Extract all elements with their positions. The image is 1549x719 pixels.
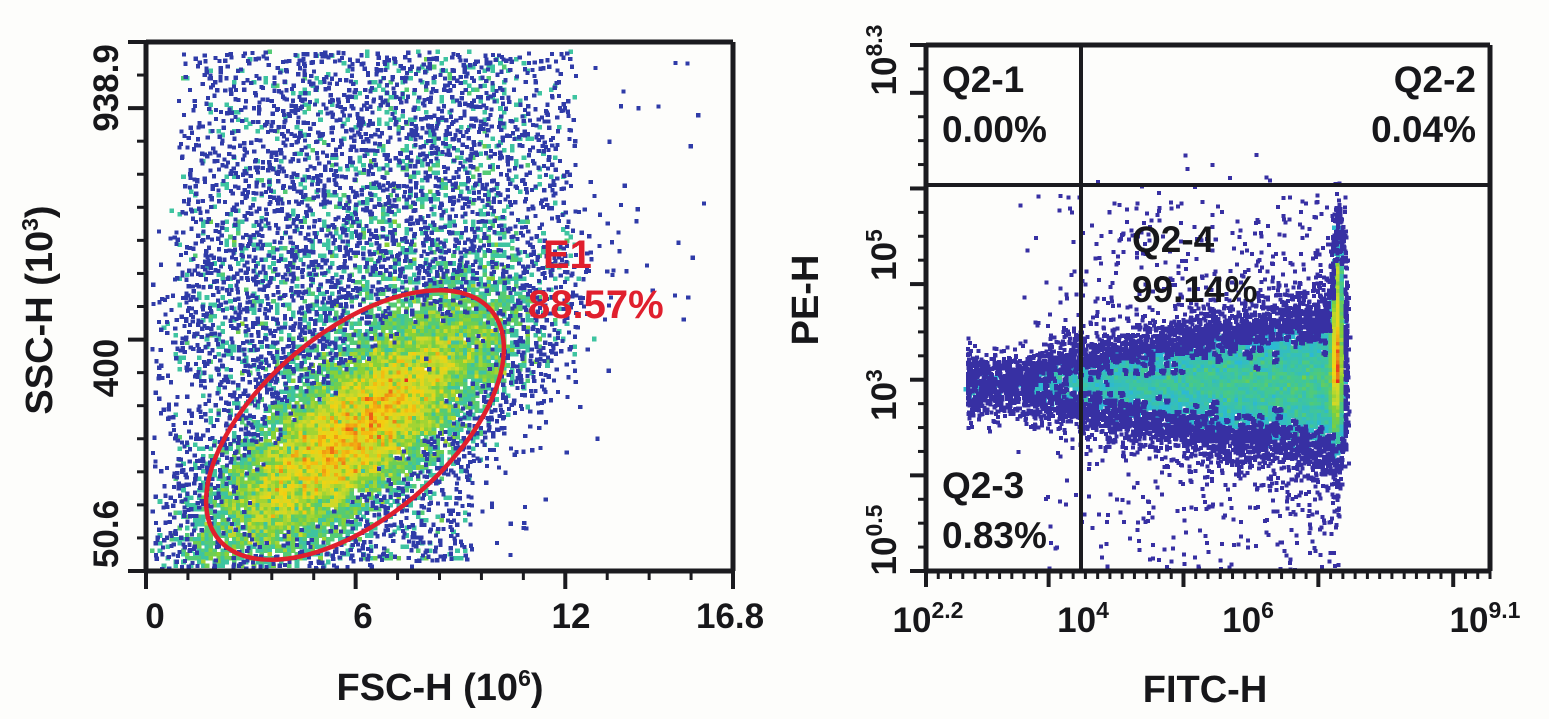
x-tick-3-exp: 9.1 — [1488, 597, 1520, 623]
x-axis-title-exp: 6 — [518, 665, 531, 691]
quadrant-label-Q2-1: Q2-1 0.00% — [942, 59, 1047, 150]
quadrant-Q2-3-name: Q2-3 — [942, 465, 1024, 506]
y-tick-3-exp: 0.5 — [861, 504, 887, 536]
quadrant-Q2-1-name: Q2-1 — [942, 59, 1024, 100]
x-tick-2-exp: 6 — [1261, 597, 1274, 623]
x-tick-label-3: 109.1 — [1450, 597, 1521, 640]
x-axis-title-tail: ) — [531, 667, 544, 709]
x-tick-0-exp: 2.2 — [931, 597, 963, 623]
x-tick-2-base: 10 — [1222, 601, 1261, 640]
x-axis-title-base: FSC-H (10 — [336, 667, 518, 709]
x-tick-3-base: 10 — [1450, 601, 1489, 640]
y-tick-label-2: 50.6 — [87, 500, 126, 568]
x-tick-label-2: 12 — [552, 597, 591, 636]
svg-text:SSC-H (103): SSC-H (103) — [17, 205, 61, 414]
x-axis-ticks — [146, 571, 733, 589]
y-tick-label-1: 105 — [861, 229, 904, 281]
quadrant-label-Q2-3: Q2-3 0.83% — [942, 465, 1047, 556]
x-tick-label-0: 0 — [145, 597, 164, 636]
x-tick-label-3: 16.8 — [696, 597, 764, 636]
x-axis-title: FSC-H (106) — [336, 665, 543, 709]
quadrant-label-Q2-2: Q2-2 0.04% — [1371, 59, 1476, 150]
x-tick-0-base: 10 — [893, 601, 932, 640]
y-tick-label-3: 100.5 — [861, 504, 904, 575]
fsc-ssc-svg: SSC-H (103) 938.9 400 50.6 E1 88.57% — [0, 0, 780, 719]
quadrant-Q2-1-percent: 0.00% — [942, 109, 1047, 150]
quadrant-Q2-4-percent: 99.14% — [1132, 269, 1258, 310]
y-axis-title-exp: 3 — [17, 218, 43, 231]
x-tick-1-exp: 4 — [1096, 597, 1109, 623]
y-tick-1-base: 10 — [865, 242, 904, 281]
y-tick-label-0: 938.9 — [87, 44, 126, 132]
y-tick-label-2: 103 — [861, 369, 904, 421]
fitc-pe-svg: PE-H 108.3 105 103 100.5 — [780, 0, 1549, 719]
gate-label-name: E1 — [543, 233, 592, 277]
x-tick-1-base: 10 — [1057, 601, 1096, 640]
x-tick-label-0: 102.2 — [893, 597, 964, 640]
y-tick-1-exp: 5 — [861, 229, 887, 242]
quadrant-Q2-4-name: Q2-4 — [1132, 219, 1215, 260]
y-axis-ticks — [128, 42, 146, 571]
flow-cytometry-figure: SSC-H (103) 938.9 400 50.6 E1 88.57% — [0, 0, 1549, 719]
x-axis-ticks — [926, 571, 1490, 587]
fsc-ssc-scatter-panel: SSC-H (103) 938.9 400 50.6 E1 88.57% — [0, 0, 780, 719]
y-tick-2-base: 10 — [865, 382, 904, 421]
y-axis-title-tail: ) — [19, 205, 61, 218]
fitc-pe-quadrant-panel: PE-H 108.3 105 103 100.5 — [780, 0, 1549, 719]
quadrant-Q2-3-percent: 0.83% — [942, 515, 1047, 556]
x-tick-label-1: 104 — [1057, 597, 1109, 640]
y-axis-title: PE-H — [785, 255, 827, 346]
x-axis-title: FITC-H — [1143, 669, 1268, 711]
y-tick-0-base: 10 — [865, 57, 904, 96]
y-tick-2-exp: 3 — [861, 369, 887, 382]
y-tick-label-0: 108.3 — [861, 25, 904, 96]
quadrant-Q2-2-percent: 0.04% — [1371, 109, 1476, 150]
x-tick-label-1: 6 — [353, 597, 372, 636]
gate-label-percent: 88.57% — [528, 283, 664, 327]
x-tick-label-2: 106 — [1222, 597, 1274, 640]
quadrant-Q2-2-name: Q2-2 — [1394, 59, 1476, 100]
y-tick-0-exp: 8.3 — [861, 25, 887, 57]
y-tick-3-base: 10 — [865, 537, 904, 576]
scatter-points — [964, 153, 1353, 572]
y-axis-title-base: SSC-H (10 — [19, 231, 61, 415]
y-tick-label-1: 400 — [87, 339, 126, 397]
y-axis-title: SSC-H (103) — [17, 205, 61, 414]
